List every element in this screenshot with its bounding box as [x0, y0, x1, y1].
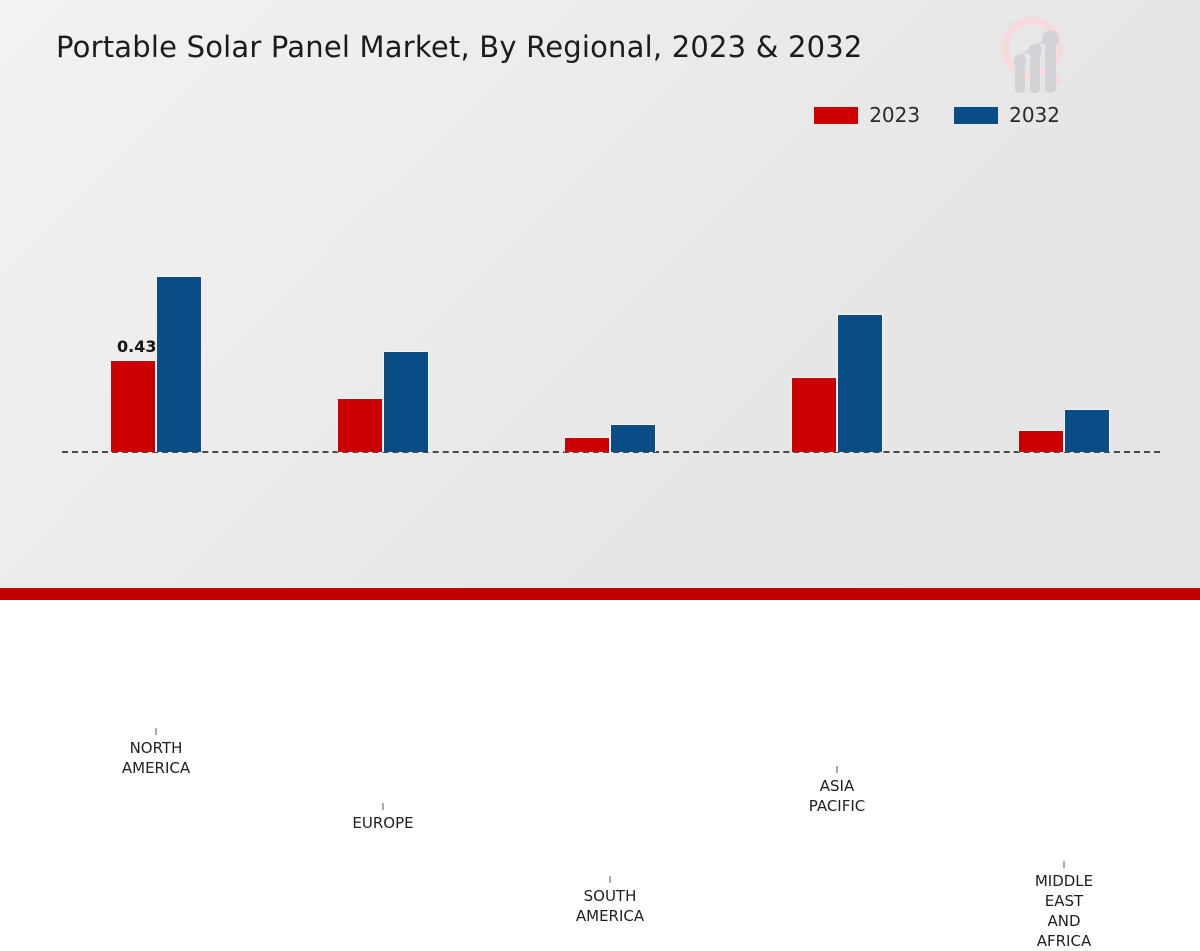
category-label-line: EUROPE: [352, 813, 413, 833]
category-label-line: ASIA: [809, 776, 866, 796]
tick-south-america: [610, 876, 611, 883]
bar-group-north-america: 0.43 NORTH AMERICA: [110, 276, 202, 452]
category-label-line: AMERICA: [122, 758, 190, 778]
category-label-europe: EUROPE: [352, 813, 413, 833]
bar-middle-east-and-africa-2023[interactable]: [1018, 430, 1064, 452]
bar-south-america-2032[interactable]: [610, 424, 656, 452]
bar-group-middle-east-and-africa: MIDDLE EAST AND AFRICA: [1018, 409, 1110, 452]
category-label-line: NORTH: [122, 738, 190, 758]
bar-north-america-2032[interactable]: [156, 276, 202, 452]
category-label-asia-pacific: ASIA PACIFIC: [809, 776, 866, 816]
category-label-south-america: SOUTH AMERICA: [576, 886, 644, 926]
category-label-line: AND: [1035, 911, 1093, 931]
bar-asia-pacific-2032[interactable]: [837, 314, 883, 452]
bar-north-america-2023[interactable]: [110, 360, 156, 452]
tick-middle-east-and-africa: [1064, 861, 1065, 868]
bar-south-america-2023[interactable]: [564, 437, 610, 452]
bar-europe-2023[interactable]: [337, 398, 383, 452]
category-label-line: PACIFIC: [809, 796, 866, 816]
tick-asia-pacific: [837, 766, 838, 773]
category-label-line: SOUTH: [576, 886, 644, 906]
bar-group-europe: EUROPE: [337, 351, 429, 452]
bar-asia-pacific-2023[interactable]: [791, 377, 837, 452]
bar-group-south-america: SOUTH AMERICA: [564, 424, 656, 452]
category-label-middle-east-and-africa: MIDDLE EAST AND AFRICA: [1035, 871, 1093, 951]
tick-europe: [383, 803, 384, 810]
bar-group-asia-pacific: ASIA PACIFIC: [791, 314, 883, 452]
chart-canvas: Portable Solar Panel Market, By Regional…: [0, 0, 1200, 600]
bar-europe-2032[interactable]: [383, 351, 429, 452]
category-label-line: AFRICA: [1035, 931, 1093, 951]
category-label-line: MIDDLE: [1035, 871, 1093, 891]
category-label-line: AMERICA: [576, 906, 644, 926]
plot-area: 0.43 NORTH AMERICA EUROPE SOUTH AMERICA: [0, 0, 1200, 600]
tick-north-america: [156, 728, 157, 735]
category-label-north-america: NORTH AMERICA: [122, 738, 190, 778]
bar-middle-east-and-africa-2032[interactable]: [1064, 409, 1110, 452]
category-label-line: EAST: [1035, 891, 1093, 911]
value-label-north-america-2023: 0.43: [117, 337, 156, 356]
footer-accent-bar: [0, 588, 1200, 600]
